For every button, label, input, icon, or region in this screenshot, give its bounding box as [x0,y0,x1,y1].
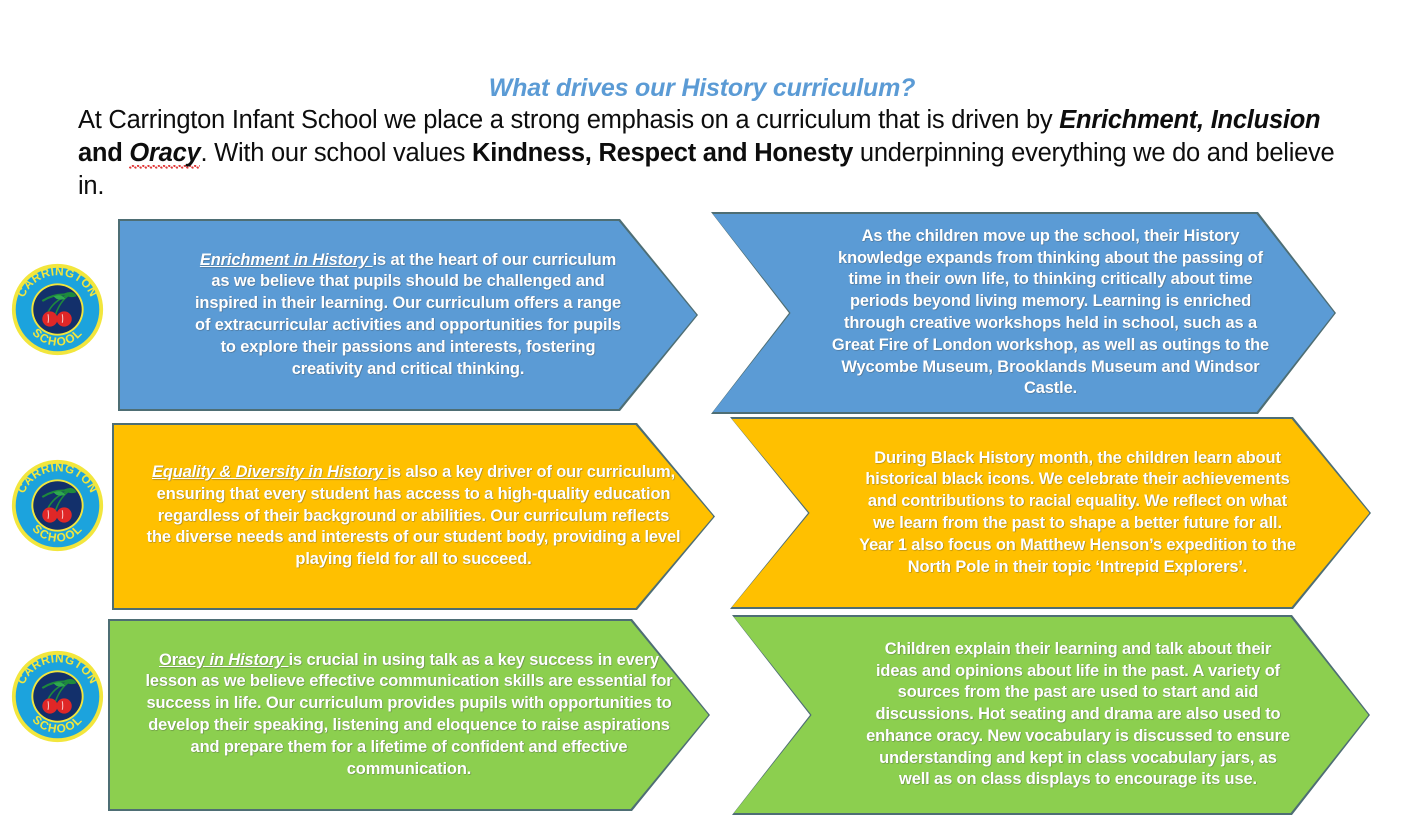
driver-row-oracy: CARRINGTON SCHOOL Oracy in History is cr… [0,613,1404,806]
intro-text-1: At Carrington Infant School we place a s… [78,106,1059,134]
chevron-heading-oracy-italic: in History [205,651,288,669]
carrington-school-logo-icon: CARRINGTON SCHOOL [10,262,105,357]
chevron-equality-right-text: During Black History month, the children… [858,448,1298,579]
chevron-enrichment-right: As the children move up the school, thei… [711,212,1336,414]
chevron-oracy-right: Children explain their learning and talk… [732,615,1370,815]
chevron-body-enrichment: is at the heart of our curriculum as we … [195,251,621,378]
chevron-body-oracy: is crucial in using talk as a key succes… [145,651,672,778]
intro-emphasis-values: Kindness, Respect and Honesty [472,139,853,167]
page-title: What drives our History curriculum? [0,74,1404,103]
chevron-heading-enrichment: Enrichment in History [200,251,373,269]
intro-emphasis-oracy: Oracy [129,139,200,169]
driver-row-enrichment: CARRINGTON SCHOOL Enrichment in History … [0,210,1404,410]
slide-canvas: What drives our History curriculum? At C… [0,0,1404,806]
chevron-enrichment-right-text: As the children move up the school, thei… [826,226,1276,400]
chevron-equality-left-text: Equality & Diversity in History is also … [144,462,684,571]
intro-emphasis-enrichment-inclusion: Enrichment, Inclusion [1059,106,1320,134]
chevron-heading-equality: Equality & Diversity in History [152,463,387,481]
driver-row-equality-diversity: CARRINGTON SCHOOL Equality & Diversity i… [0,415,1404,613]
chevron-oracy-right-text: Children explain their learning and talk… [862,639,1294,792]
chevron-enrichment-left-text: Enrichment in History is at the heart of… [193,250,623,381]
carrington-school-logo-icon: CARRINGTON SCHOOL [10,649,105,744]
chevron-enrichment-left: Enrichment in History is at the heart of… [118,219,698,411]
chevron-equality-left: Equality & Diversity in History is also … [112,423,715,610]
intro-text-and: and [78,139,129,167]
chevron-equality-right: During Black History month, the children… [730,417,1371,609]
carrington-school-logo-icon: CARRINGTON SCHOOL [10,458,105,553]
intro-text-3: . With our school values [200,139,472,167]
intro-paragraph: At Carrington Infant School we place a s… [78,104,1358,203]
chevron-oracy-left-text: Oracy in History is crucial in using tal… [143,650,675,781]
chevron-heading-oracy-plain: Oracy [159,651,205,669]
chevron-oracy-left: Oracy in History is crucial in using tal… [108,619,710,811]
